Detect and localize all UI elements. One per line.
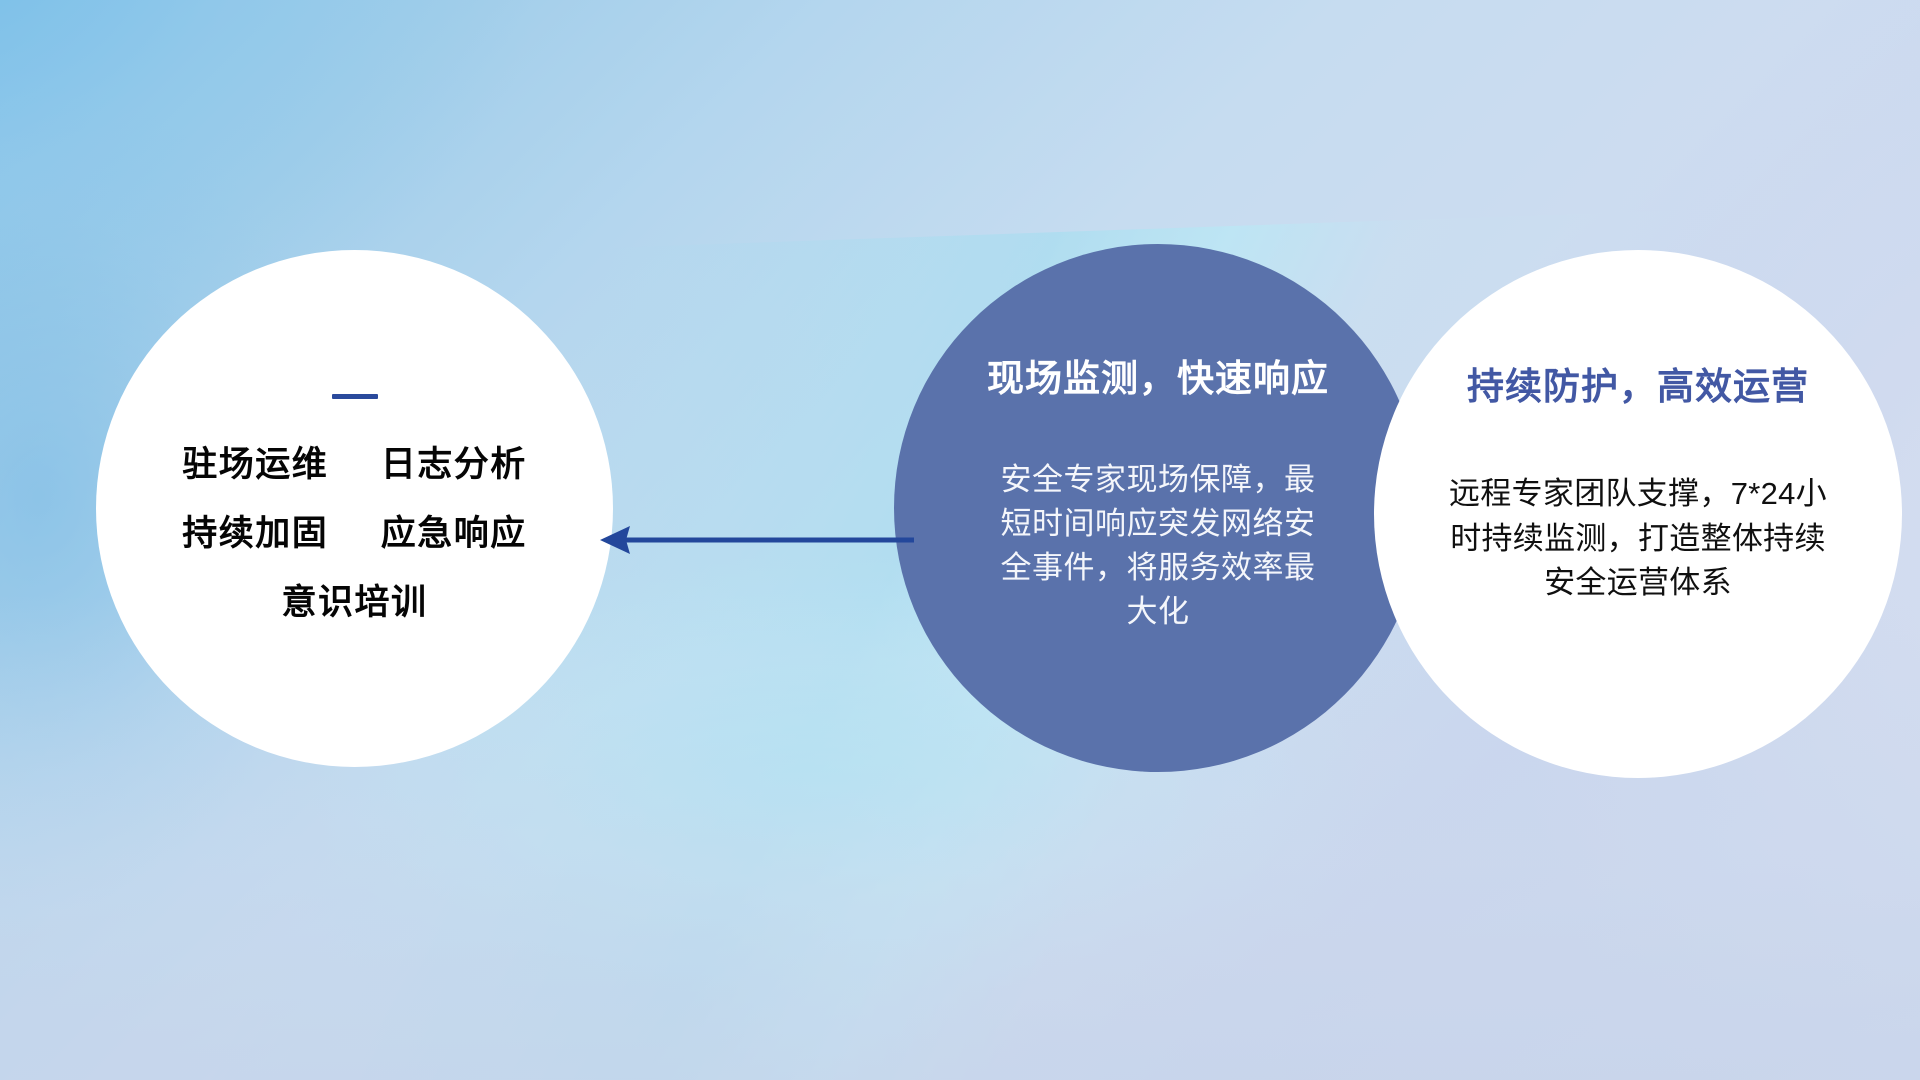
node-onsite-circle[interactable]: 现场监测，快速响应 安全专家现场保障，最短时间响应突发网络安全事件，将服务效率最…	[894, 244, 1422, 772]
service-label-hardening: 持续加固	[182, 514, 328, 553]
operate-description: 远程专家团队支撑，7*24小时持续监测，打造整体持续安全运营体系	[1438, 472, 1838, 606]
node-services-circle[interactable]: 驻场运维 日志分析 持续加固 应急响应 意识培训	[96, 250, 613, 767]
service-label-log-analysis: 日志分析	[381, 445, 527, 484]
service-label-emergency: 应急响应	[381, 514, 527, 553]
service-row-3: 意识培训	[281, 585, 427, 620]
accent-dash-icon	[332, 394, 378, 399]
operate-title: 持续防护，高效运营	[1467, 356, 1809, 410]
slide-canvas: 驻场运维 日志分析 持续加固 应急响应 意识培训 现场监测，快速响应 安全专家现…	[0, 0, 1920, 1080]
service-row-2: 持续加固 应急响应	[182, 516, 527, 551]
service-row-1: 驻场运维 日志分析	[182, 447, 527, 482]
onsite-description: 安全专家现场保障，最短时间响应突发网络安全事件，将服务效率最大化	[998, 458, 1318, 634]
onsite-title: 现场监测，快速响应	[987, 348, 1329, 402]
service-label-awareness-training: 意识培训	[281, 583, 427, 622]
flow-arrow-icon	[596, 504, 916, 576]
node-operate-circle[interactable]: 持续防护，高效运营 远程专家团队支撑，7*24小时持续监测，打造整体持续安全运营…	[1374, 250, 1902, 778]
service-label-onsite-ops: 驻场运维	[182, 445, 328, 484]
